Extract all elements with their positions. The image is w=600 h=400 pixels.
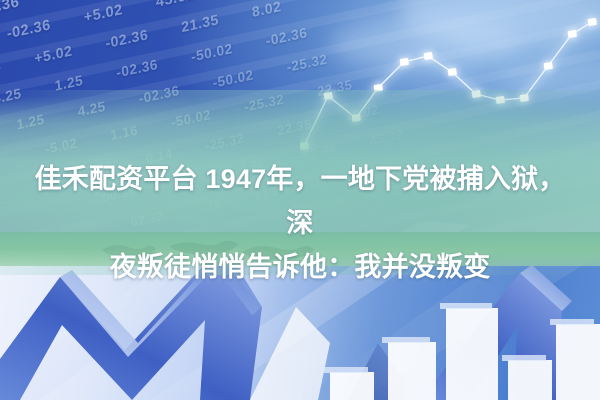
- bar-top-face: [440, 303, 492, 309]
- bar: [446, 308, 498, 400]
- bar-top-face: [550, 319, 594, 325]
- glow-chart-marker: [448, 68, 457, 76]
- glow-chart-marker: [400, 58, 409, 66]
- glow-chart-marker: [568, 30, 577, 38]
- bar: [556, 324, 600, 400]
- glow-chart-marker: [544, 62, 553, 70]
- bar: [508, 360, 552, 400]
- headline-line-1: 佳禾配资平台 1947年，一地下党被捕入狱，深: [35, 164, 566, 238]
- bar-top-face: [324, 367, 368, 373]
- bar: [330, 372, 374, 400]
- bar-top-face: [502, 355, 546, 361]
- banner-image: -02.3621.3645.024.3610.02-11.26-02.36+5.…: [0, 0, 600, 400]
- bar-top-face: [382, 337, 430, 343]
- glow-chart-marker: [424, 52, 433, 60]
- glow-chart-marker: [588, 18, 597, 26]
- headline-line-2: 夜叛徒悄悄告诉他：我并没叛变: [110, 252, 491, 282]
- bar: [388, 342, 436, 400]
- page-title: 佳禾配资平台 1947年，一地下党被捕入狱，深夜叛徒悄悄告诉他：我并没叛变: [0, 157, 600, 289]
